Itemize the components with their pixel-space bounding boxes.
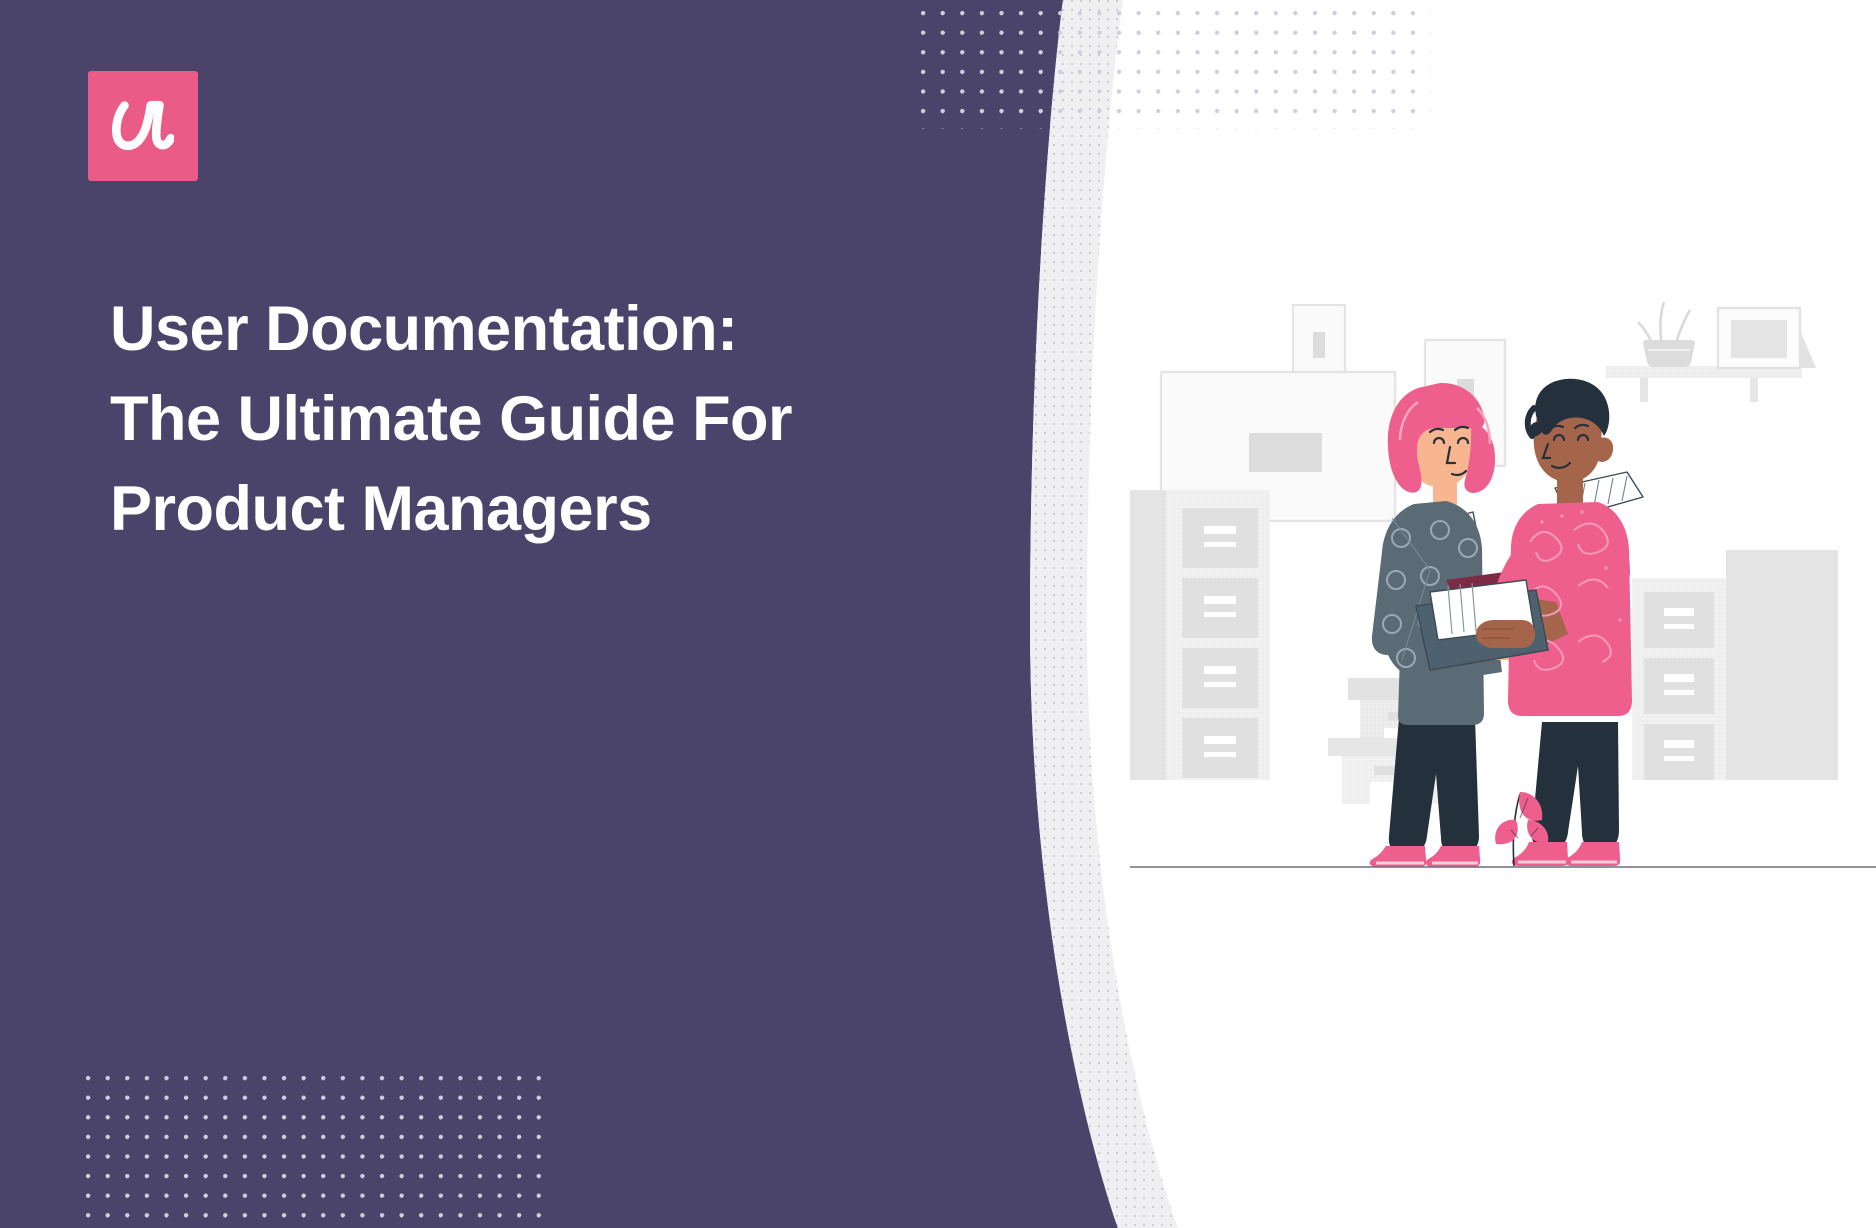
potted-plant	[1638, 302, 1695, 367]
shelf-picture-frame	[1718, 308, 1816, 368]
wall-frame-small-upper	[1293, 305, 1345, 381]
office-documents-illustration	[1130, 280, 1876, 900]
userpilot-logo[interactable]	[88, 71, 198, 181]
filing-cabinet-right	[1632, 550, 1838, 780]
filing-cabinet-left	[1130, 490, 1270, 780]
dot-grid-top-right-icon	[921, 11, 1431, 129]
hero-banner: User Documentation: The Ultimate Guide F…	[0, 0, 1876, 1228]
dot-grid-bottom-left-icon	[86, 1076, 556, 1228]
page-title: User Documentation: The Ultimate Guide F…	[110, 284, 810, 554]
wall-shelf	[1606, 366, 1802, 402]
userpilot-u-logo-icon	[112, 93, 174, 159]
